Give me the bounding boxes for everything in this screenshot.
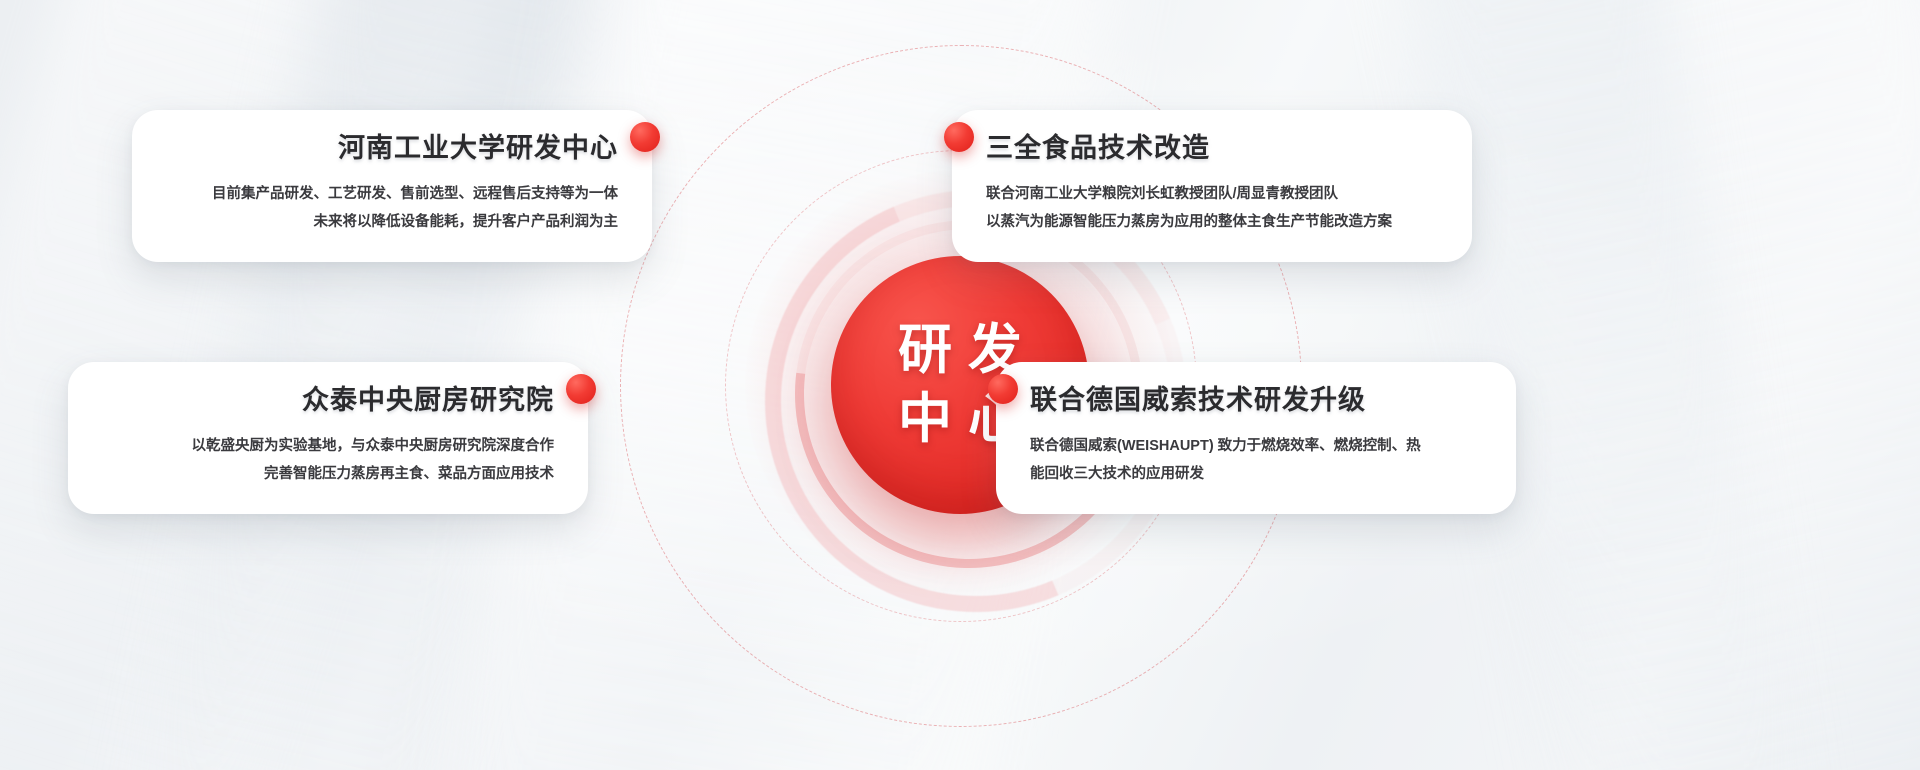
card-body: 以乾盛央厨为实验基地，与众泰中央厨房研究院深度合作 完善智能压力蒸房再主食、菜品…: [102, 432, 554, 489]
card-body-line: 以蒸汽为能源智能压力蒸房为应用的整体主食生产节能改造方案: [986, 208, 1438, 236]
card-title: 联合德国威索技术研发升级: [1030, 384, 1482, 418]
card-body-line: 联合德国威索(WEISHAUPT) 致力于燃烧效率、燃烧控制、热: [1030, 432, 1482, 460]
card-body-line: 以乾盛央厨为实验基地，与众泰中央厨房研究院深度合作: [102, 432, 554, 460]
card-sanquan-food-technology-upgrade[interactable]: 三全食品技术改造 联合河南工业大学粮院刘长虹教授团队/周显青教授团队 以蒸汽为能…: [952, 110, 1472, 262]
card-body: 联合河南工业大学粮院刘长虹教授团队/周显青教授团队 以蒸汽为能源智能压力蒸房为应…: [986, 180, 1438, 237]
card-body: 目前集产品研发、工艺研发、售前选型、远程售后支持等为一体 未来将以降低设备能耗，…: [166, 180, 618, 237]
red-dot-icon: [944, 122, 974, 152]
card-content: 联合德国威索技术研发升级 联合德国威索(WEISHAUPT) 致力于燃烧效率、燃…: [996, 362, 1516, 514]
card-body-line: 未来将以降低设备能耗，提升客户产品利润为主: [166, 208, 618, 236]
card-body-line: 目前集产品研发、工艺研发、售前选型、远程售后支持等为一体: [166, 180, 618, 208]
card-content: 众泰中央厨房研究院 以乾盛央厨为实验基地，与众泰中央厨房研究院深度合作 完善智能…: [68, 362, 588, 514]
card-body-line: 完善智能压力蒸房再主食、菜品方面应用技术: [102, 460, 554, 488]
card-henan-university-of-technology-rd-center[interactable]: 河南工业大学研发中心 目前集产品研发、工艺研发、售前选型、远程售后支持等为一体 …: [132, 110, 652, 262]
card-body: 联合德国威索(WEISHAUPT) 致力于燃烧效率、燃烧控制、热 能回收三大技术…: [1030, 432, 1482, 489]
card-title: 河南工业大学研发中心: [166, 132, 618, 166]
card-zhongtai-central-kitchen-institute[interactable]: 众泰中央厨房研究院 以乾盛央厨为实验基地，与众泰中央厨房研究院深度合作 完善智能…: [68, 362, 588, 514]
red-dot-icon: [630, 122, 660, 152]
card-content: 三全食品技术改造 联合河南工业大学粮院刘长虹教授团队/周显青教授团队 以蒸汽为能…: [952, 110, 1472, 262]
card-title: 三全食品技术改造: [986, 132, 1438, 166]
card-body-line: 能回收三大技术的应用研发: [1030, 460, 1482, 488]
card-title: 众泰中央厨房研究院: [102, 384, 554, 418]
card-body-line: 联合河南工业大学粮院刘长虹教授团队/周显青教授团队: [986, 180, 1438, 208]
red-dot-icon: [988, 374, 1018, 404]
infographic-canvas: 研发 中心 河南工业大学研发中心 目前集产品研发、工艺研发、售前选型、远程售后支…: [0, 0, 1920, 770]
red-dot-icon: [566, 374, 596, 404]
card-weishaupt-joint-rd-upgrade[interactable]: 联合德国威索技术研发升级 联合德国威索(WEISHAUPT) 致力于燃烧效率、燃…: [996, 362, 1516, 514]
card-content: 河南工业大学研发中心 目前集产品研发、工艺研发、售前选型、远程售后支持等为一体 …: [132, 110, 652, 262]
